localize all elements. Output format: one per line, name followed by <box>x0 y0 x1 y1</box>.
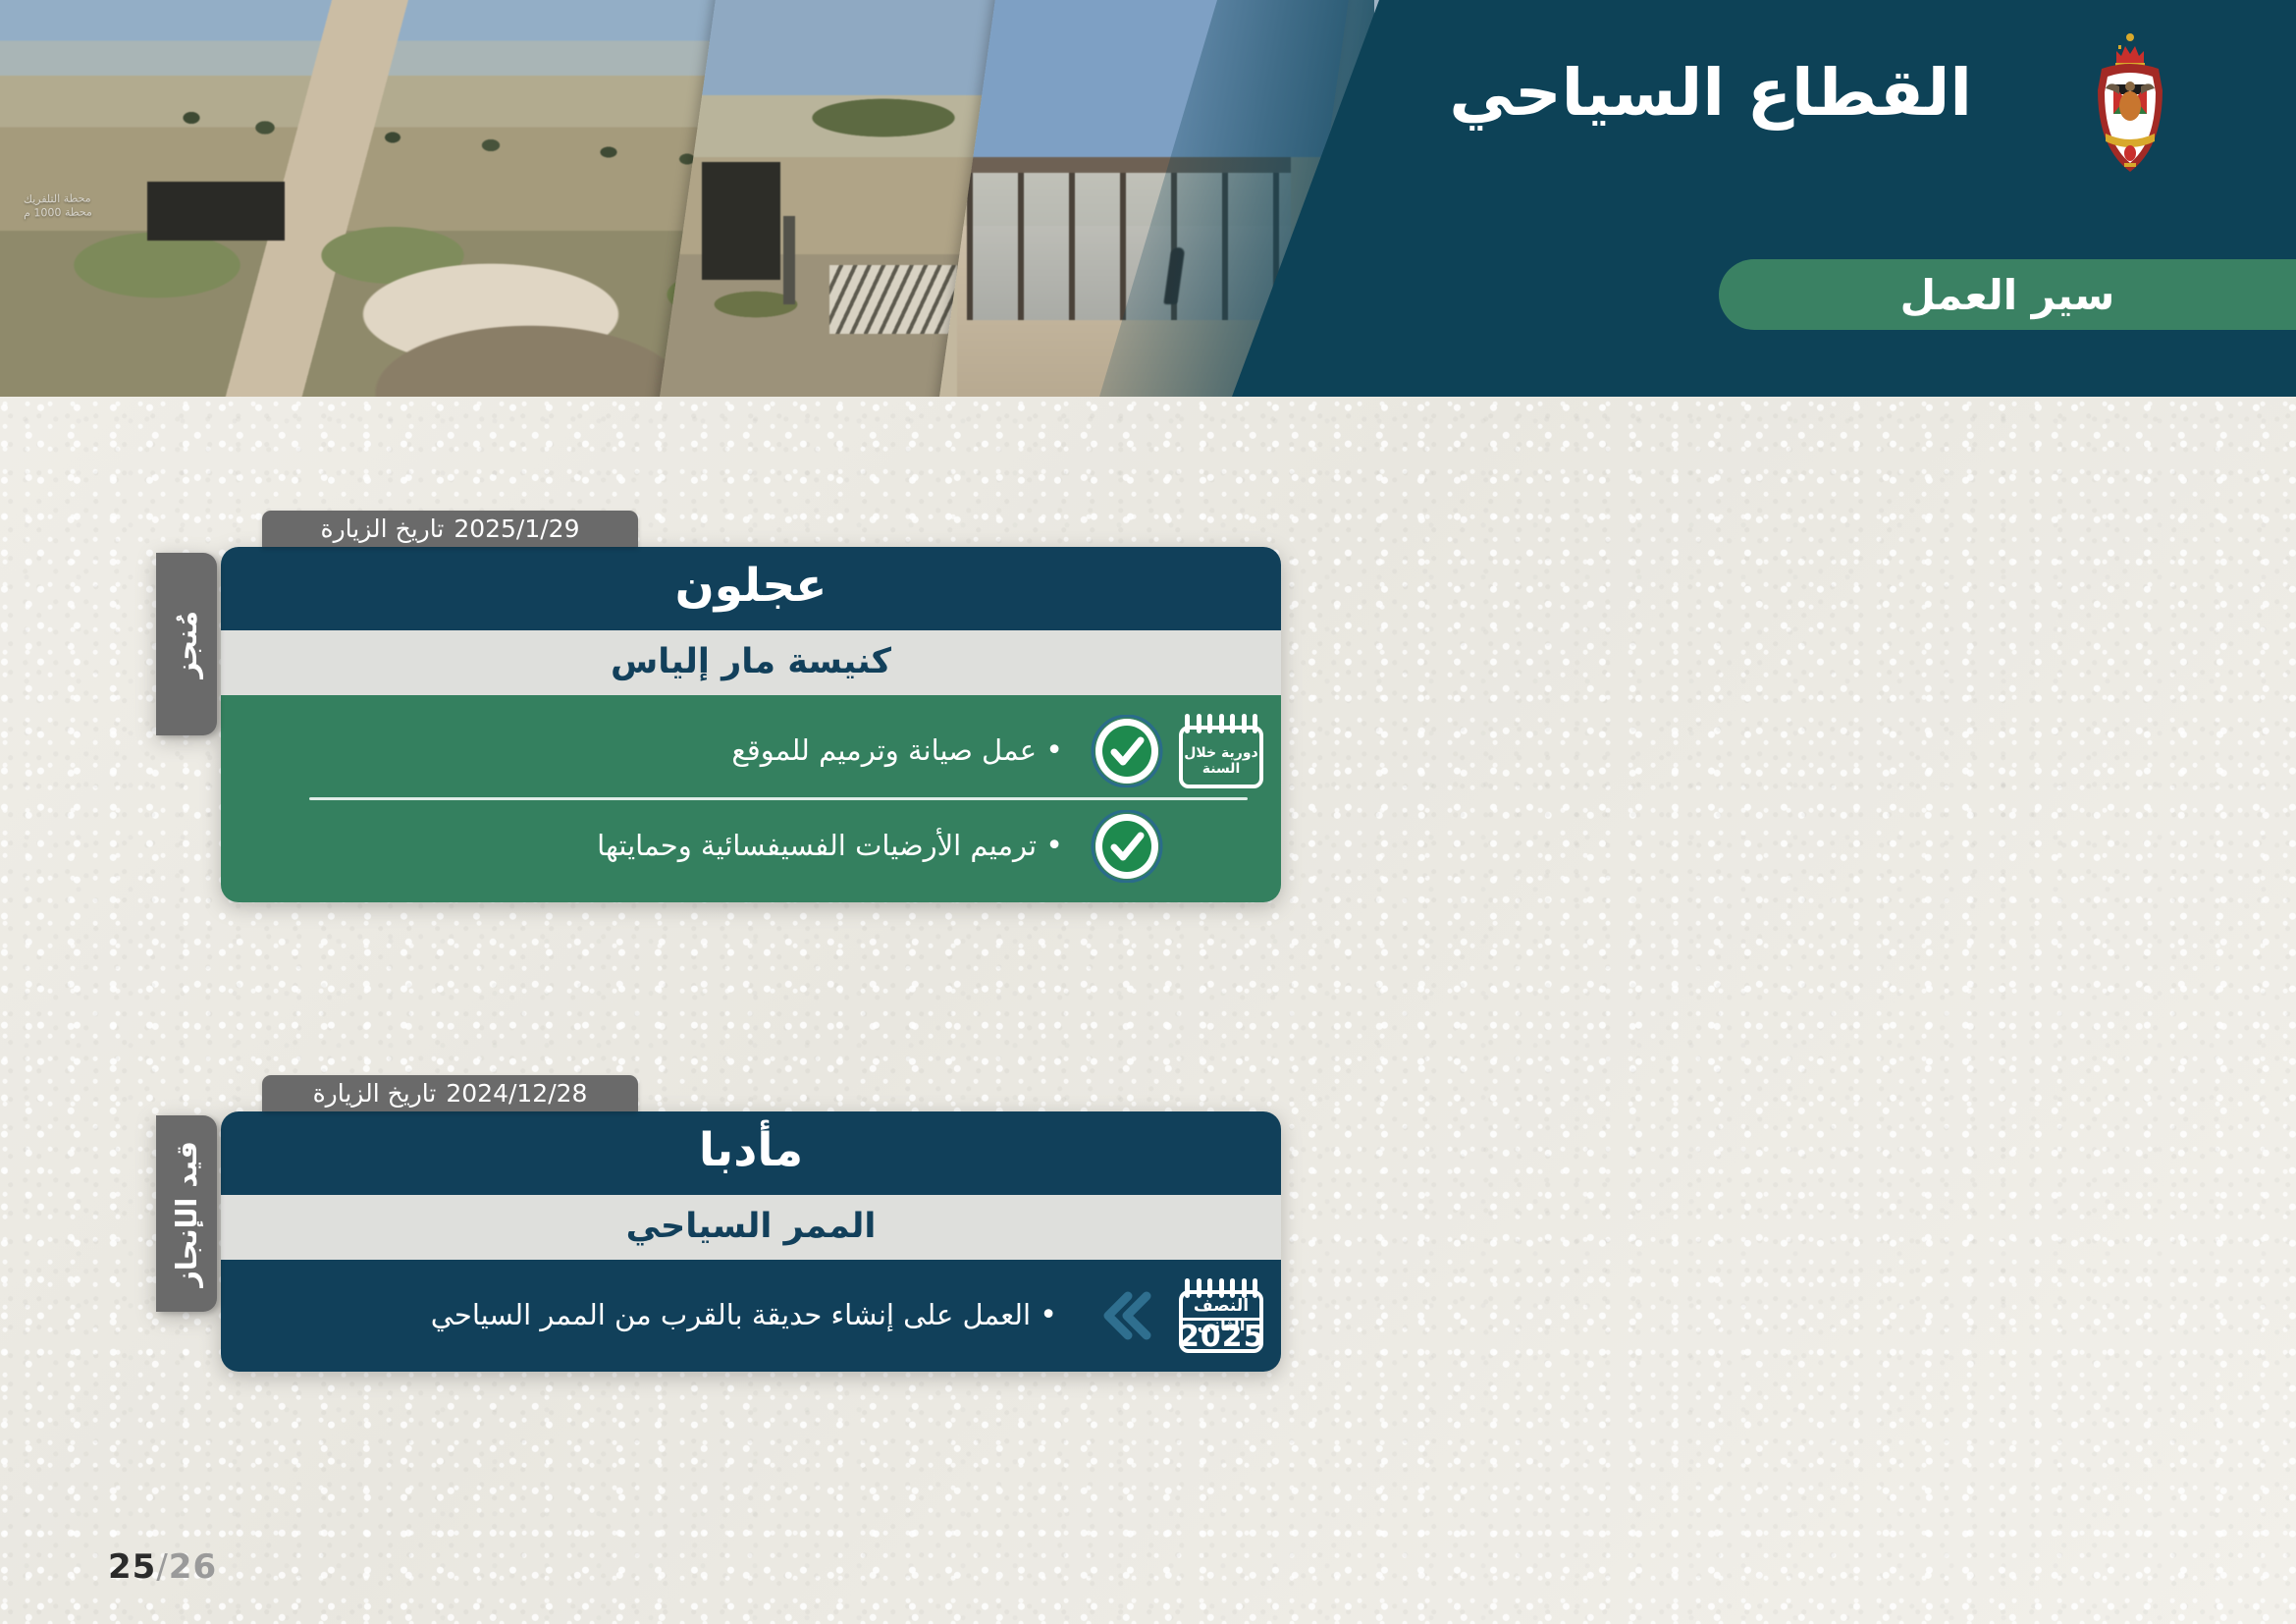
bullet-icon: • <box>1045 829 1063 863</box>
task-text: • ترميم الأرضيات الفسيفسائية وحمايتها <box>242 826 1085 866</box>
status-badge-label: مُنجز <box>170 611 203 678</box>
bullet-icon: • <box>1045 733 1063 768</box>
task-row: • ترميم الأرضيات الفسيفسائية وحمايتها <box>221 804 1281 889</box>
visit-date-tab: 2024/12/28 تاريخ الزيارة <box>262 1075 638 1111</box>
page-number: 25/26 <box>108 1547 217 1587</box>
status-badge: قيد الإنجاز <box>156 1115 217 1312</box>
site-card-madaba: 2024/12/28 تاريخ الزيارة قيد الإنجاز مأد… <box>221 1075 1281 1372</box>
governorate-title: عجلون <box>221 547 1281 630</box>
task-row: دورية خلال السنة • عمل صيانة وترميم للمو… <box>221 709 1281 793</box>
visit-date-label: تاريخ الزيارة <box>313 1079 437 1108</box>
check-circle-icon <box>1091 810 1163 883</box>
page-title: القطاع السياحي <box>1449 55 1972 131</box>
jordan-coat-of-arms-icon <box>2072 29 2188 182</box>
card: قيد الإنجاز مأدبا الممر السياحي النصف ال… <box>221 1111 1281 1372</box>
site-card-ajloun: 2025/1/29 تاريخ الزيارة مُنجز عجلون كنيس… <box>221 511 1281 902</box>
card-body: دورية خلال السنة • عمل صيانة وترميم للمو… <box>221 695 1281 902</box>
calendar-year: 2025 <box>1179 1320 1263 1354</box>
check-circle-icon <box>1091 715 1163 787</box>
page-number-separator: / <box>156 1547 168 1587</box>
page-number-current: 25 <box>108 1547 156 1587</box>
task-text: • عمل صيانة وترميم للموقع <box>242 731 1085 771</box>
calendar-2025-icon: النصف الثاني 2025 <box>1179 1278 1263 1353</box>
visit-date-value: 2025/1/29 <box>454 514 579 543</box>
status-badge-label: قيد الإنجاز <box>170 1141 203 1287</box>
card: مُنجز عجلون كنيسة مار إلياس دورية خلال ا… <box>221 547 1281 902</box>
site-name: كنيسة مار إلياس <box>221 630 1281 695</box>
workflow-banner: سير العمل <box>1719 259 2296 330</box>
task-label: عمل صيانة وترميم للموقع <box>731 733 1037 767</box>
row-divider <box>309 797 1248 800</box>
page-number-total: 26 <box>169 1547 217 1587</box>
task-text: • العمل على إنشاء حديقة بالقرب من الممر … <box>242 1295 1079 1335</box>
governorate-title: مأدبا <box>221 1111 1281 1195</box>
site-name: الممر السياحي <box>221 1195 1281 1260</box>
calendar-label: دورية خلال السنة <box>1179 745 1263 777</box>
card-body: النصف الثاني 2025 • العمل على إنشاء حديق… <box>221 1260 1281 1372</box>
visit-date-tab: 2025/1/29 تاريخ الزيارة <box>262 511 638 547</box>
calendar-periodic-icon: دورية خلال السنة <box>1179 714 1263 788</box>
status-badge: مُنجز <box>156 553 217 735</box>
double-chevron-left-icon <box>1085 1278 1159 1353</box>
visit-date-label: تاريخ الزيارة <box>321 514 445 543</box>
render-photo-caption: محطة التلفريك محطة 1000 م <box>24 191 92 220</box>
task-row: النصف الثاني 2025 • العمل على إنشاء حديق… <box>221 1273 1281 1358</box>
task-label: ترميم الأرضيات الفسيفسائية وحمايتها <box>597 829 1037 862</box>
visit-date-value: 2024/12/28 <box>446 1079 587 1108</box>
task-label: العمل على إنشاء حديقة بالقرب من الممر ال… <box>431 1298 1031 1331</box>
slide-canvas: محطة التلفريك محطة 1000 م القطاع السياحي <box>0 0 2296 1624</box>
bullet-icon: • <box>1040 1298 1057 1332</box>
workflow-banner-label: سير العمل <box>1900 271 2115 319</box>
slide-header: محطة التلفريك محطة 1000 م القطاع السياحي <box>0 0 2296 397</box>
